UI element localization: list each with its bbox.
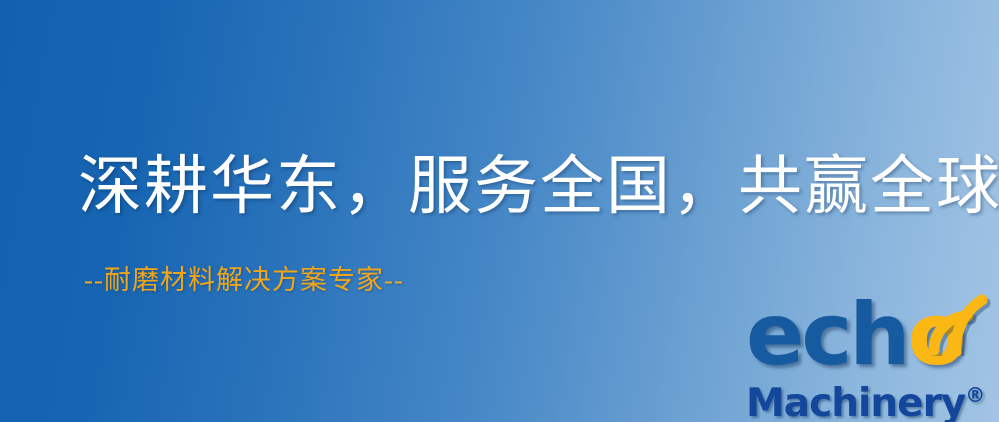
logo-wordmark-machinery: Machinery® — [746, 374, 985, 422]
banner-subtitle: --耐磨材料解决方案专家-- — [84, 264, 404, 296]
company-logo[interactable]: echo Machinery® — [744, 292, 994, 420]
logo-text-ech: ech — [746, 285, 908, 385]
hero-banner: 深耕华东，服务全国，共赢全球 --耐磨材料解决方案专家-- echo Machi… — [0, 0, 999, 422]
wifi-arc-icon — [926, 294, 992, 356]
registered-trademark-icon: ® — [965, 383, 985, 407]
logo-text-machinery: Machinery — [746, 381, 965, 422]
banner-headline: 深耕华东，服务全国，共赢全球 — [78, 150, 999, 224]
